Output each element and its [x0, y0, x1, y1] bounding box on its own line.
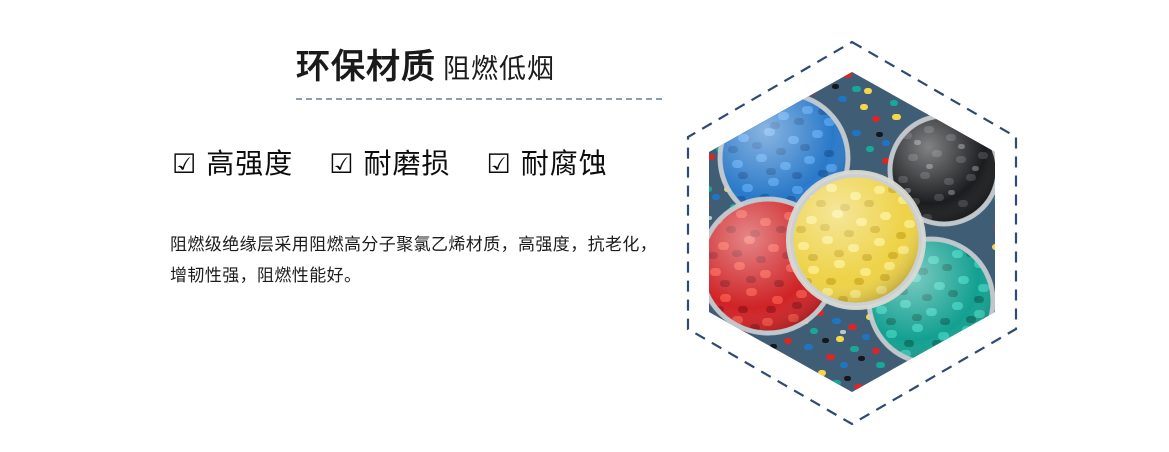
checkbox-checked-icon: ☑: [486, 151, 510, 178]
description-paragraph: 阻燃级绝缘层采用阻燃高分子聚氯乙烯材质，高强度，抗老化，增韧性强，阻燃性能好。: [170, 230, 670, 292]
checkbox-checked-icon: ☑: [172, 151, 196, 178]
feature-item-corrosion-resistant: ☑ 耐腐蚀: [486, 150, 607, 178]
page-title-main: 环保材质: [296, 47, 436, 87]
promo-banner: 环保材质阻燃低烟 ☑ 高强度 ☑ 耐磨损 ☑ 耐腐蚀 阻燃级绝缘层采用阻燃高分子…: [0, 0, 1169, 452]
pellet-photo: [696, 63, 1016, 403]
page-title-sub: 阻燃低烟: [443, 54, 555, 85]
feature-item-strength: ☑ 高强度: [172, 150, 293, 178]
bowl-yellow: [786, 170, 926, 310]
feature-label: 耐腐蚀: [521, 150, 608, 178]
title-divider: [296, 98, 662, 100]
feature-list: ☑ 高强度 ☑ 耐磨损 ☑ 耐腐蚀: [172, 150, 608, 178]
feature-item-wear-resistant: ☑ 耐磨损: [329, 150, 450, 178]
checkbox-checked-icon: ☑: [329, 151, 353, 178]
feature-label: 高强度: [206, 150, 293, 178]
feature-label: 耐磨损: [363, 150, 450, 178]
text-column: 环保材质阻燃低烟 ☑ 高强度 ☑ 耐磨损 ☑ 耐腐蚀 阻燃级绝缘层采用阻燃高分子…: [0, 0, 690, 452]
page-title: 环保材质阻燃低烟: [296, 50, 555, 84]
product-artwork: [676, 18, 1036, 438]
